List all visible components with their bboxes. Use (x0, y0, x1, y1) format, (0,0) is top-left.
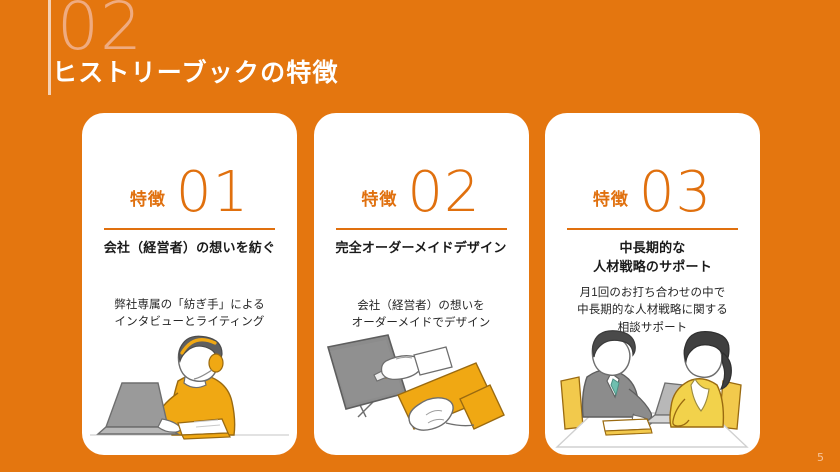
feature-card-03[interactable]: 特徴 03 中長期的な 人材戦略のサポート 月1回のお打ち合わせの中で 中長期的… (545, 113, 760, 455)
page-title: ヒストリーブックの特徴 (52, 60, 339, 88)
card-body-line: 月1回のお打ち合わせの中で (553, 285, 752, 302)
slide-header: 02 ヒストリーブックの特徴 (0, 0, 840, 110)
section-number: 02 (57, 0, 143, 60)
feature-card-02[interactable]: 特徴 02 完全オーダーメイドデザイン 会社（経営者）の想いを オーダーメイドで… (314, 113, 529, 455)
card-divider-01 (104, 228, 275, 230)
card-number-01: 01 (176, 167, 249, 219)
card-kicker-01: 特徴 (130, 191, 166, 208)
card-header-01: 特徴 01 (82, 147, 297, 219)
card-divider-03 (567, 228, 738, 230)
card-title-line: 完全オーダーメイドデザイン (324, 239, 519, 258)
card-divider-02 (336, 228, 507, 230)
card-body-line: 弊社専属の「紡ぎ手」による (90, 297, 289, 314)
tablet-stylus-hands-illustration (314, 323, 529, 451)
feature-card-01[interactable]: 特徴 01 会社（経営者）の想いを紡ぐ 弊社専属の「紡ぎ手」による インタビュー… (82, 113, 297, 455)
card-number-02: 02 (407, 167, 480, 219)
feature-card-list: 特徴 01 会社（経営者）の想いを紡ぐ 弊社専属の「紡ぎ手」による インタビュー… (82, 113, 760, 455)
card-body-line: 中長期的な人材戦略に関する (553, 302, 752, 319)
card-header-02: 特徴 02 (314, 147, 529, 219)
card-number-03: 03 (639, 167, 712, 219)
card-body-line: 会社（経営者）の想いを (322, 298, 521, 315)
card-title-02: 完全オーダーメイドデザイン (324, 239, 519, 258)
header-vertical-rule (48, 0, 51, 95)
card-title-03: 中長期的な 人材戦略のサポート (555, 239, 750, 277)
page-number: 5 (817, 451, 824, 464)
card-title-line: 会社（経営者）の想いを紡ぐ (92, 239, 287, 258)
person-with-headset-laptop-illustration (82, 323, 297, 451)
card-title-01: 会社（経営者）の想いを紡ぐ (92, 239, 287, 258)
card-header-03: 特徴 03 (545, 147, 760, 219)
card-kicker-02: 特徴 (361, 191, 397, 208)
card-title-line: 中長期的な (555, 239, 750, 258)
slide-canvas: 02 ヒストリーブックの特徴 特徴 01 会社（経営者）の想いを紡ぐ 弊社専属の… (0, 0, 840, 472)
card-title-line: 人材戦略のサポート (555, 258, 750, 277)
two-people-meeting-illustration (545, 323, 760, 451)
card-kicker-03: 特徴 (593, 191, 629, 208)
